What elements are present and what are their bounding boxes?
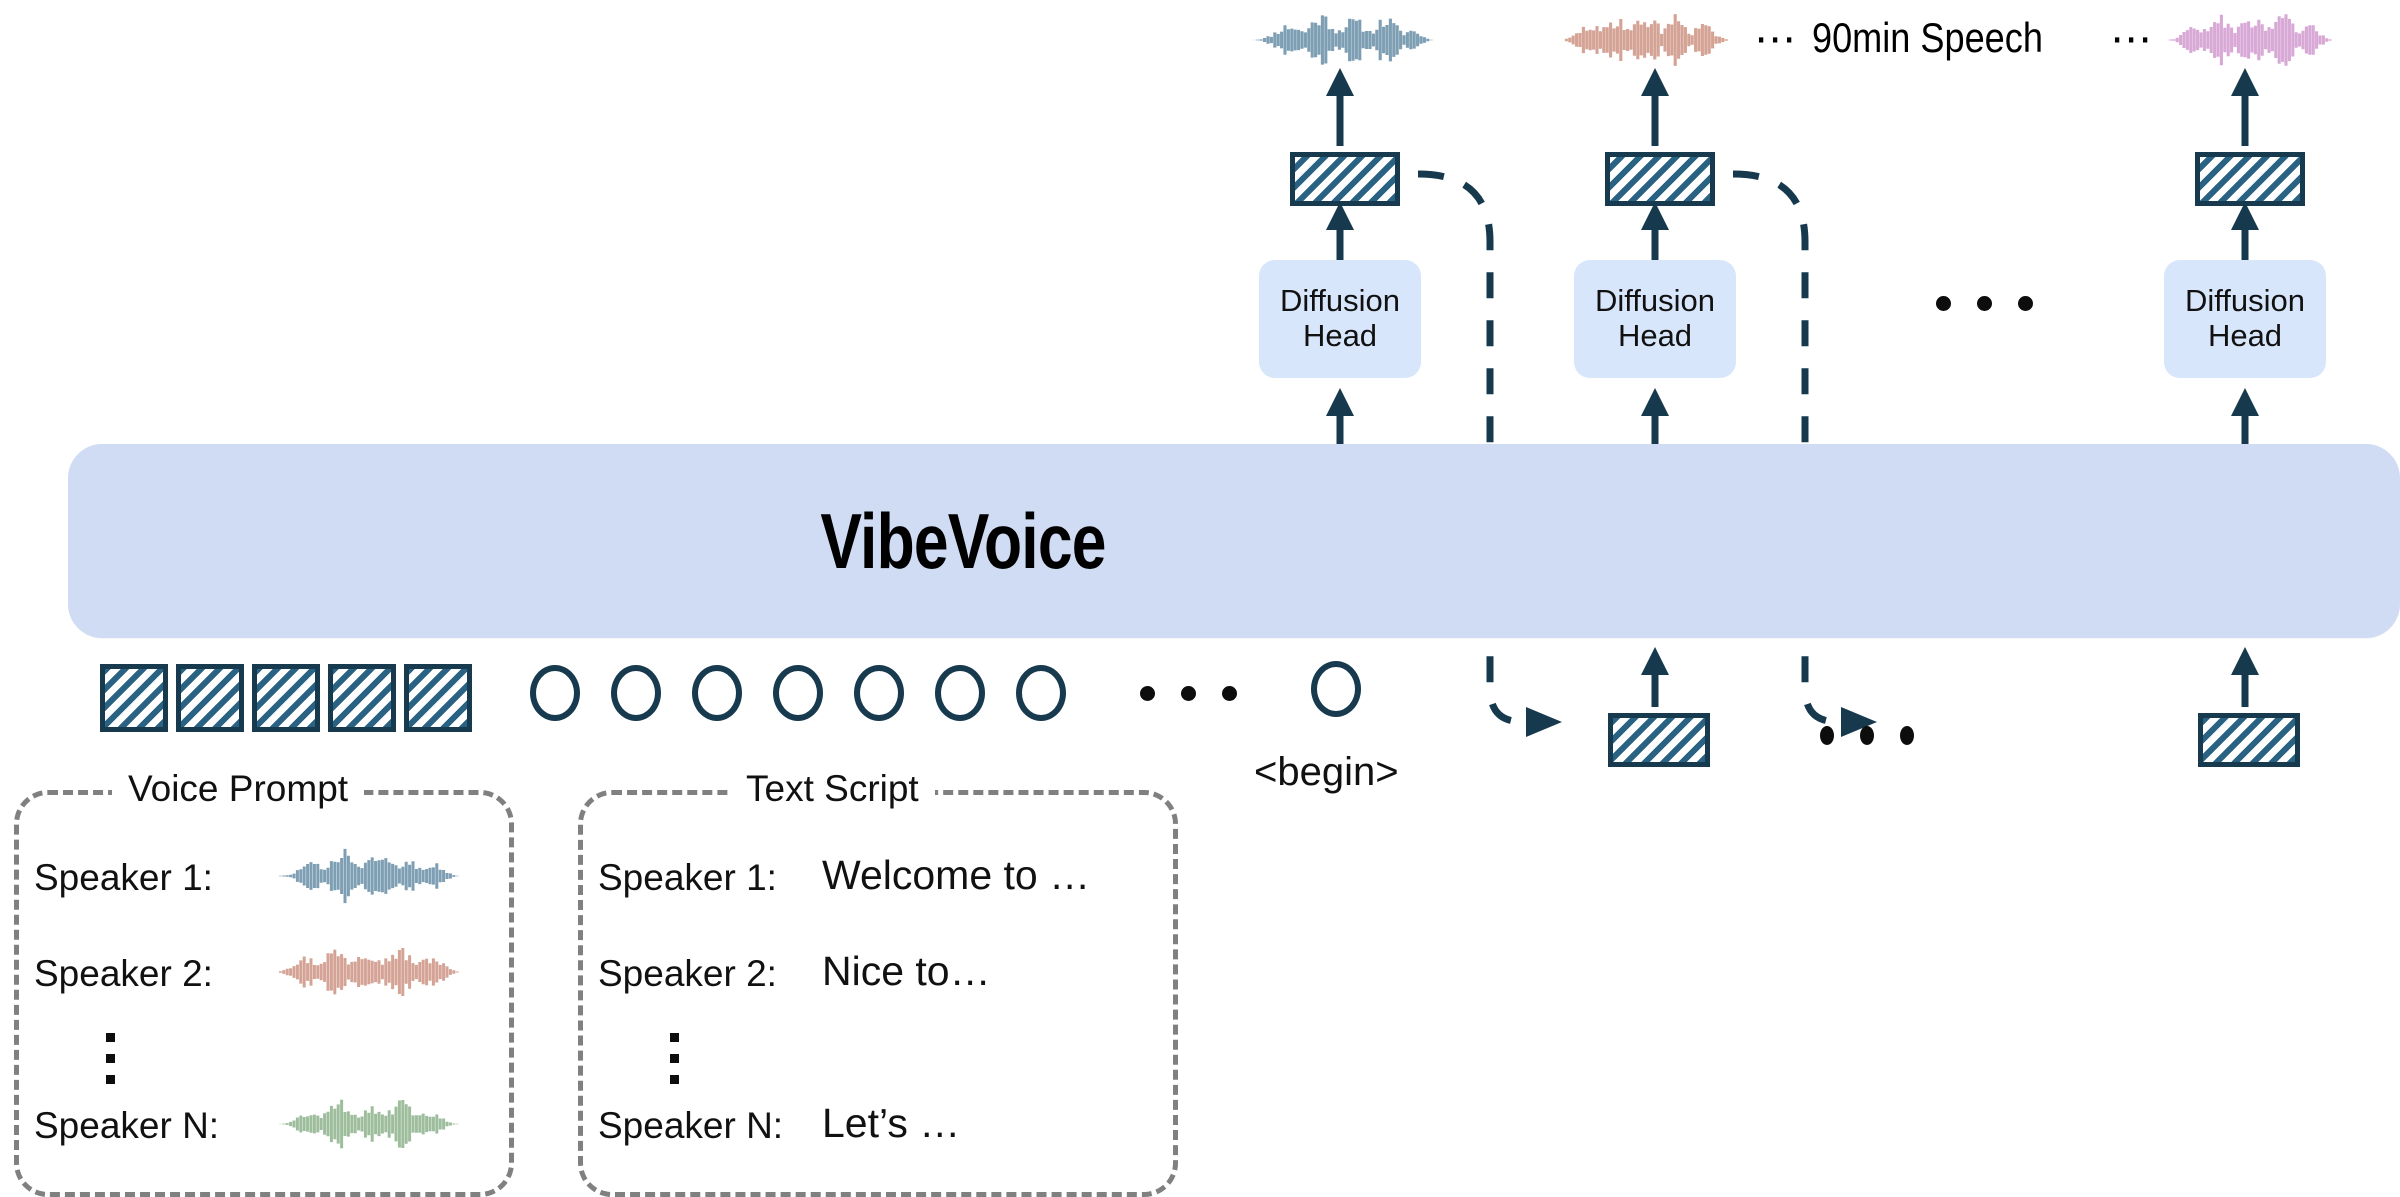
- ellipsis-dot: [1860, 726, 1874, 745]
- ellipsis-dot: [106, 1054, 115, 1063]
- text-script-vertical-ellipsis: [670, 1033, 679, 1084]
- output-waveform-3: [2166, 8, 2338, 72]
- arrow-bar-to-head-1: [1322, 386, 1358, 446]
- text-script-row-2-text: Nice to…: [822, 948, 991, 995]
- ellipsis-dot: [670, 1054, 679, 1063]
- ellipsis-dot: [1222, 686, 1237, 701]
- diffusion-head-1-line2: Head: [1303, 319, 1377, 354]
- voice-prompt-token-1: [100, 664, 168, 732]
- diffusion-head-2[interactable]: Diffusion Head: [1574, 260, 1736, 378]
- acoustic-token-input-1: [1608, 713, 1710, 767]
- ellipsis-dot: [106, 1075, 115, 1084]
- diffusion-head-2-line2: Head: [1618, 319, 1692, 354]
- arrow-bar-to-head-3: [2227, 386, 2263, 446]
- vibevoice-model-bar[interactable]: VibeVoice: [68, 444, 2400, 638]
- voice-prompt-vertical-ellipsis: [106, 1033, 115, 1084]
- text-script-row-2-label: Speaker 2:: [598, 953, 777, 995]
- text-token-3: [692, 665, 742, 721]
- arrow-input-token-to-bar-2: [2227, 645, 2263, 707]
- voice-prompt-token-5: [404, 664, 472, 732]
- ellipsis-dot: [2018, 296, 2033, 311]
- ellipsis-dot: [670, 1033, 679, 1042]
- ellipsis-dot: [670, 1075, 679, 1084]
- voice-prompt-token-2: [176, 664, 244, 732]
- diffusion-head-3-line2: Head: [2208, 319, 2282, 354]
- voice-prompt-row-2-wave: [276, 941, 466, 1003]
- waveform-svg-vp1: [276, 845, 466, 907]
- voice-prompt-row-1-label: Speaker 1:: [34, 857, 213, 899]
- ellipsis-dot: [1900, 726, 1914, 745]
- ellipsis-dot: [1140, 686, 1155, 701]
- text-token-6: [935, 665, 985, 721]
- diffusion-head-3-line1: Diffusion: [2185, 284, 2305, 319]
- begin-token: [1311, 661, 1361, 717]
- text-token-2: [611, 665, 661, 721]
- diffusion-head-3[interactable]: Diffusion Head: [2164, 260, 2326, 378]
- arrow-token-to-wave-3: [2227, 66, 2263, 146]
- speech-leading-ellipsis: ⋯: [1754, 14, 1798, 63]
- diagram-canvas: ⋯ 90min Speech ⋯: [0, 0, 2400, 1197]
- ellipsis-dot: [1820, 726, 1834, 745]
- arrow-token-to-wave-1: [1322, 66, 1358, 146]
- ellipsis-dot: [106, 1033, 115, 1042]
- diffusion-head-2-line1: Diffusion: [1595, 284, 1715, 319]
- voice-prompt-row-3-label: Speaker N:: [34, 1105, 219, 1147]
- voice-prompt-token-3: [252, 664, 320, 732]
- page-title: VibeVoice: [247, 444, 1679, 638]
- arrow-token-to-wave-2: [1637, 66, 1673, 146]
- ellipsis-dot: [1936, 296, 1951, 311]
- output-waveform-1: [1250, 8, 1440, 72]
- waveform-svg-vp3: [276, 1093, 466, 1155]
- text-script-title: Text Script: [730, 768, 935, 810]
- text-script-row-1-text: Welcome to …: [822, 852, 1090, 899]
- voice-prompt-row-2-label: Speaker 2:: [34, 953, 213, 995]
- acoustic-token-top-3: [2195, 152, 2305, 206]
- acoustic-token-top-1: [1290, 152, 1400, 206]
- acoustic-token-input-2: [2198, 713, 2300, 767]
- acoustic-token-ellipsis: [1820, 726, 1914, 745]
- voice-prompt-row-1-wave: [276, 845, 466, 907]
- text-script-row-3-text: Let’s …: [822, 1100, 960, 1147]
- diffusion-head-ellipsis: [1936, 296, 2033, 311]
- speech-duration-label: 90min Speech: [1812, 14, 2043, 62]
- waveform-svg-vp2: [276, 941, 466, 1003]
- text-script-row-1-label: Speaker 1:: [598, 857, 777, 899]
- voice-prompt-row-3-wave: [276, 1093, 466, 1155]
- waveform-svg-3: [2166, 8, 2338, 72]
- begin-token-label: <begin>: [1254, 750, 1399, 795]
- waveform-svg-1: [1250, 8, 1440, 72]
- text-script-row-3-label: Speaker N:: [598, 1105, 783, 1147]
- voice-prompt-token-4: [328, 664, 396, 732]
- arrow-input-token-to-bar-1: [1637, 645, 1673, 707]
- text-token-7: [1016, 665, 1066, 721]
- acoustic-token-top-2: [1605, 152, 1715, 206]
- waveform-svg-2: [1562, 8, 1732, 72]
- token-sequence-ellipsis: [1140, 686, 1237, 701]
- arrow-bar-to-head-2: [1637, 386, 1673, 446]
- text-token-5: [854, 665, 904, 721]
- output-waveform-2: [1562, 8, 1732, 72]
- text-token-1: [530, 665, 580, 721]
- diffusion-head-1-line1: Diffusion: [1280, 284, 1400, 319]
- speech-trailing-ellipsis: ⋯: [2110, 14, 2154, 63]
- ellipsis-dot: [1181, 686, 1196, 701]
- voice-prompt-title: Voice Prompt: [112, 768, 364, 810]
- text-token-4: [773, 665, 823, 721]
- diffusion-head-1[interactable]: Diffusion Head: [1259, 260, 1421, 378]
- ellipsis-dot: [1977, 296, 1992, 311]
